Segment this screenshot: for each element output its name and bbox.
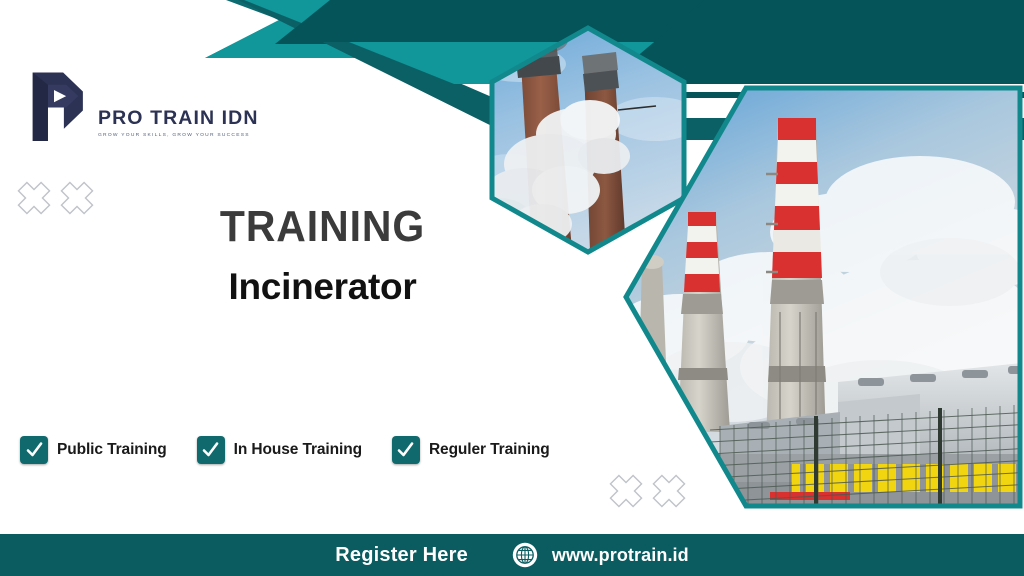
brand-logo[interactable]: PRO TRAIN IDN GROW YOUR SKILLS, GROW YOU… (16, 68, 259, 144)
register-here-label[interactable]: Register Here (335, 544, 468, 567)
power-plant-photo (620, 82, 1024, 512)
globe-icon (512, 542, 538, 568)
training-option-label: Reguler Training (429, 441, 550, 459)
brand-text: PRO TRAIN IDN GROW YOUR SKILLS, GROW YOU… (98, 109, 259, 145)
x-mark-icon (59, 180, 95, 216)
checkbox-checked-icon[interactable] (20, 436, 48, 464)
training-option-reguler[interactable]: Reguler Training (392, 436, 550, 464)
decorative-x-marks-lower (608, 473, 687, 509)
decorative-x-marks-left (16, 180, 95, 216)
checkbox-checked-icon[interactable] (392, 436, 420, 464)
brand-tagline: GROW YOUR SKILLS, GROW YOUR SUCCESS (98, 133, 259, 138)
brand-name: PRO TRAIN IDN (98, 109, 259, 129)
training-option-in-house[interactable]: In House Training (197, 436, 362, 464)
x-mark-icon (16, 180, 52, 216)
footer-bar: Register Here www.protrain.id (0, 534, 1024, 576)
x-mark-icon (608, 473, 644, 509)
x-mark-icon (651, 473, 687, 509)
training-option-label: Public Training (57, 441, 167, 459)
poster-canvas: PRO TRAIN IDN GROW YOUR SKILLS, GROW YOU… (0, 0, 1024, 576)
website-link[interactable]: www.protrain.id (512, 542, 689, 568)
training-option-public[interactable]: Public Training (20, 436, 167, 464)
training-options: Public Training In House Training Regule… (20, 436, 550, 464)
training-option-label: In House Training (234, 441, 362, 459)
checkbox-checked-icon[interactable] (197, 436, 225, 464)
website-url: www.protrain.id (552, 545, 689, 566)
headline-topic: Incinerator (0, 267, 645, 308)
protrain-arrow-logo-icon (16, 68, 92, 144)
